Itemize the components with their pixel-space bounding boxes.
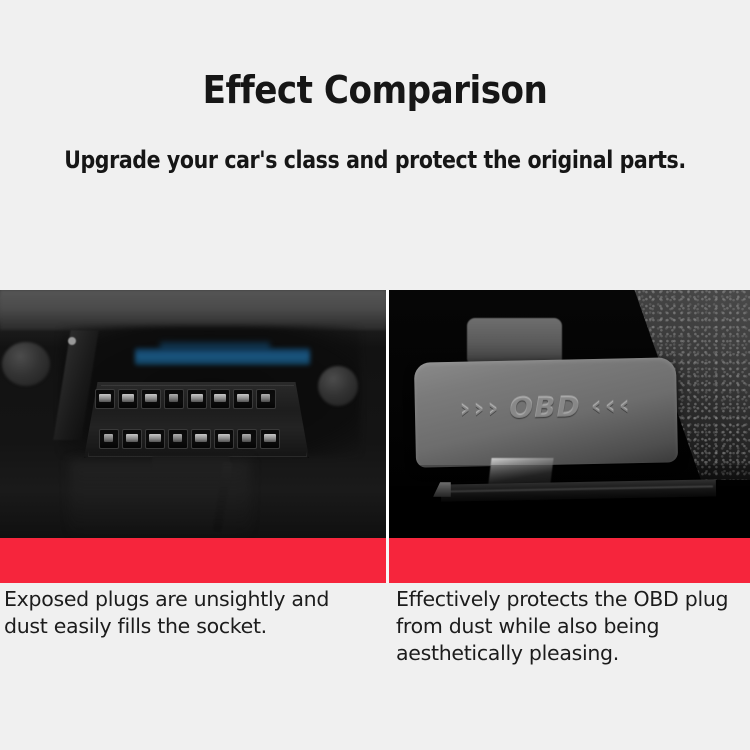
obd-pin: [95, 389, 115, 409]
page-subtitle: Upgrade your car's class and protect the…: [19, 112, 732, 175]
obd-pin: [256, 389, 276, 409]
page-header: Effect Comparison Upgrade your car's cla…: [0, 0, 750, 175]
blue-wiring-harness: [135, 348, 310, 365]
lower-trim-shadow: [70, 460, 250, 538]
lower-dark-shade: [389, 465, 750, 538]
chevron-left-icon: ‹: [618, 393, 631, 418]
bolt-head-right: [318, 366, 358, 406]
obd-pin: [164, 389, 184, 409]
chevrons-right-pointing: › › ›: [459, 395, 500, 421]
chevrons-left-pointing: ‹ ‹ ‹: [590, 393, 631, 419]
caption-right: Effectively protects the OBD plug from d…: [390, 586, 750, 667]
photo-exposed-obd-socket: [0, 290, 386, 538]
caption-row: Exposed plugs are unsightly and dust eas…: [0, 586, 750, 667]
obd-pin: [260, 429, 280, 449]
obd-pin: [122, 429, 142, 449]
chevron-right-icon: ›: [487, 395, 500, 420]
dashboard-rail: [0, 290, 386, 330]
chevron-right-icon: ›: [459, 396, 472, 421]
comparison-panel-left: [0, 290, 386, 538]
bolt-head-left: [2, 342, 50, 386]
obd-emboss-label: OBD: [509, 390, 581, 424]
obd-pin: [99, 429, 119, 449]
obd-pin: [145, 429, 165, 449]
obd-cover-emboss: › › › OBD ‹ ‹ ‹: [429, 384, 662, 431]
obd-pin: [187, 389, 207, 409]
cover-upper-stub: [467, 318, 562, 363]
red-divider-right: [389, 538, 750, 583]
obd-pin-row-bottom: [99, 429, 280, 449]
obd-pin: [118, 389, 138, 409]
bracket-screw: [68, 337, 76, 345]
obd-pin: [233, 389, 253, 409]
red-divider-left: [0, 538, 386, 583]
page-title: Effect Comparison: [0, 0, 750, 112]
photo-obd-cover-installed: › › › OBD ‹ ‹ ‹: [389, 290, 750, 538]
obd-pin: [141, 389, 161, 409]
obd-pin: [168, 429, 188, 449]
caption-left: Exposed plugs are unsightly and dust eas…: [0, 586, 390, 667]
chevron-left-icon: ‹: [590, 393, 603, 418]
obd-pin: [214, 429, 234, 449]
comparison-photo-band: › › › OBD ‹ ‹ ‹: [0, 290, 750, 538]
chevron-right-icon: ›: [473, 396, 486, 421]
obd-pin: [210, 389, 230, 409]
obd-pin: [191, 429, 211, 449]
red-divider-bar: [0, 538, 750, 583]
chevron-left-icon: ‹: [604, 393, 617, 418]
obd-pin: [237, 429, 257, 449]
obd-pin-row-top: [95, 389, 276, 409]
comparison-panel-right: › › › OBD ‹ ‹ ‹: [389, 290, 750, 538]
